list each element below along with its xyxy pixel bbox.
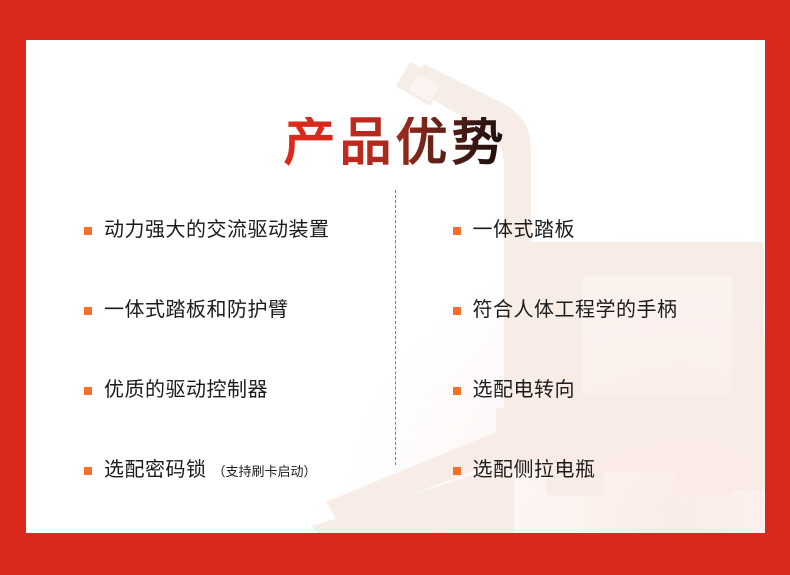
bullet-square-icon — [453, 467, 461, 475]
feature-label: 选配电转向 — [473, 378, 576, 402]
bullet-square-icon — [84, 467, 92, 475]
feature-label: 一体式踏板和防护臂 — [104, 298, 289, 322]
feature-item[interactable]: 动力强大的交流驱动装置 — [84, 190, 397, 270]
feature-note: （支持刷卡启动） — [213, 461, 317, 480]
feature-label: 选配侧拉电瓶 — [473, 458, 596, 482]
feature-item[interactable]: 一体式踏板和防护臂 — [84, 270, 397, 350]
feature-item[interactable]: 符合人体工程学的手柄 — [453, 270, 766, 350]
bullet-square-icon — [453, 387, 461, 395]
content-panel: 产品优势 动力强大的交流驱动装置 一体式踏板和防护臂 优质的驱动 — [26, 40, 765, 533]
feature-label: 一体式踏板 — [473, 218, 576, 242]
bullet-square-icon — [84, 227, 92, 235]
page-title-container: 产品优势 — [26, 82, 765, 204]
features-column-right: 一体式踏板 符合人体工程学的手柄 选配电转向 选配侧拉电瓶 — [397, 190, 766, 510]
feature-item[interactable]: 选配电转向 — [453, 350, 766, 430]
feature-label: 动力强大的交流驱动装置 — [104, 218, 330, 242]
bullet-square-icon — [84, 387, 92, 395]
feature-item[interactable]: 选配侧拉电瓶 — [453, 430, 766, 510]
feature-item[interactable]: 优质的驱动控制器 — [84, 350, 397, 430]
feature-item[interactable]: 选配密码锁 （支持刷卡启动） — [84, 430, 397, 510]
product-advantages-slide: 产品优势 动力强大的交流驱动装置 一体式踏板和防护臂 优质的驱动 — [0, 0, 790, 575]
features-columns: 动力强大的交流驱动装置 一体式踏板和防护臂 优质的驱动控制器 选配密码锁 — [26, 190, 765, 510]
bullet-square-icon — [453, 227, 461, 235]
feature-label: 选配密码锁 — [104, 458, 207, 482]
features-column-left: 动力强大的交流驱动装置 一体式踏板和防护臂 优质的驱动控制器 选配密码锁 — [26, 190, 397, 510]
feature-item[interactable]: 一体式踏板 — [453, 190, 766, 270]
feature-label: 优质的驱动控制器 — [104, 378, 268, 402]
feature-label: 符合人体工程学的手柄 — [473, 298, 678, 322]
page-title: 产品优势 — [283, 117, 507, 169]
bullet-square-icon — [84, 307, 92, 315]
bullet-square-icon — [453, 307, 461, 315]
